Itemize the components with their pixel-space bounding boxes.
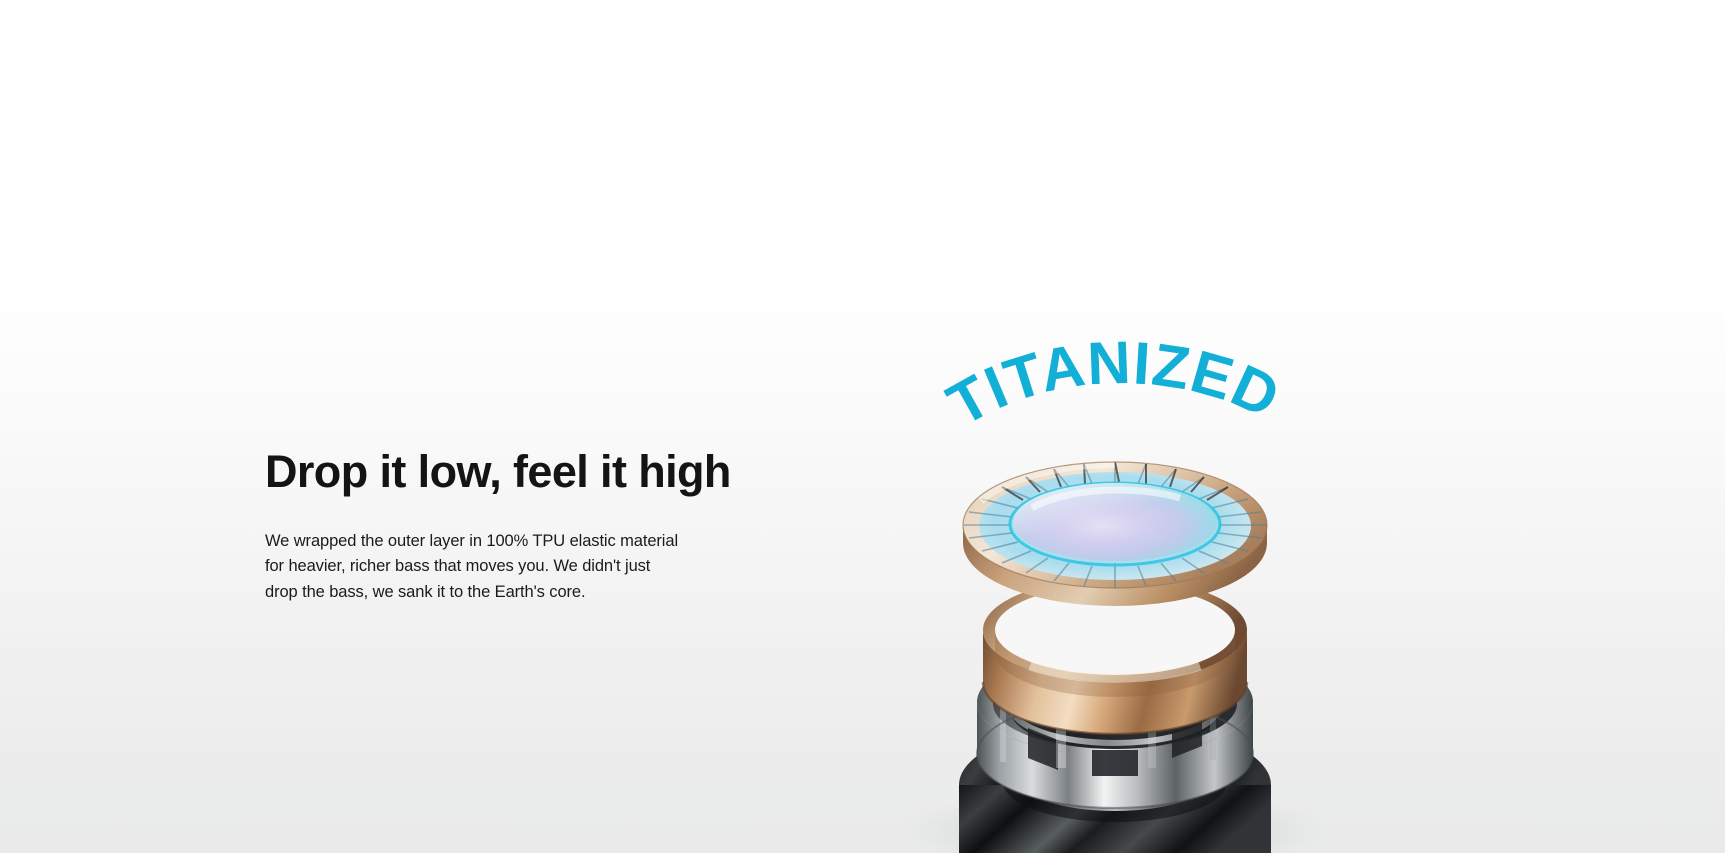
- page-title: Drop it low, feel it high: [265, 448, 725, 496]
- hero-section: Drop it low, feel it high We wrapped the…: [0, 0, 1725, 853]
- product-image: TITANIZED: [880, 330, 1350, 853]
- diaphragm-cone: [963, 462, 1267, 606]
- copy-block: Drop it low, feel it high We wrapped the…: [265, 448, 725, 605]
- titanized-text: TITANIZED: [937, 329, 1290, 439]
- titanized-label: TITANIZED: [937, 329, 1290, 439]
- body-paragraph: We wrapped the outer layer in 100% TPU e…: [265, 529, 685, 606]
